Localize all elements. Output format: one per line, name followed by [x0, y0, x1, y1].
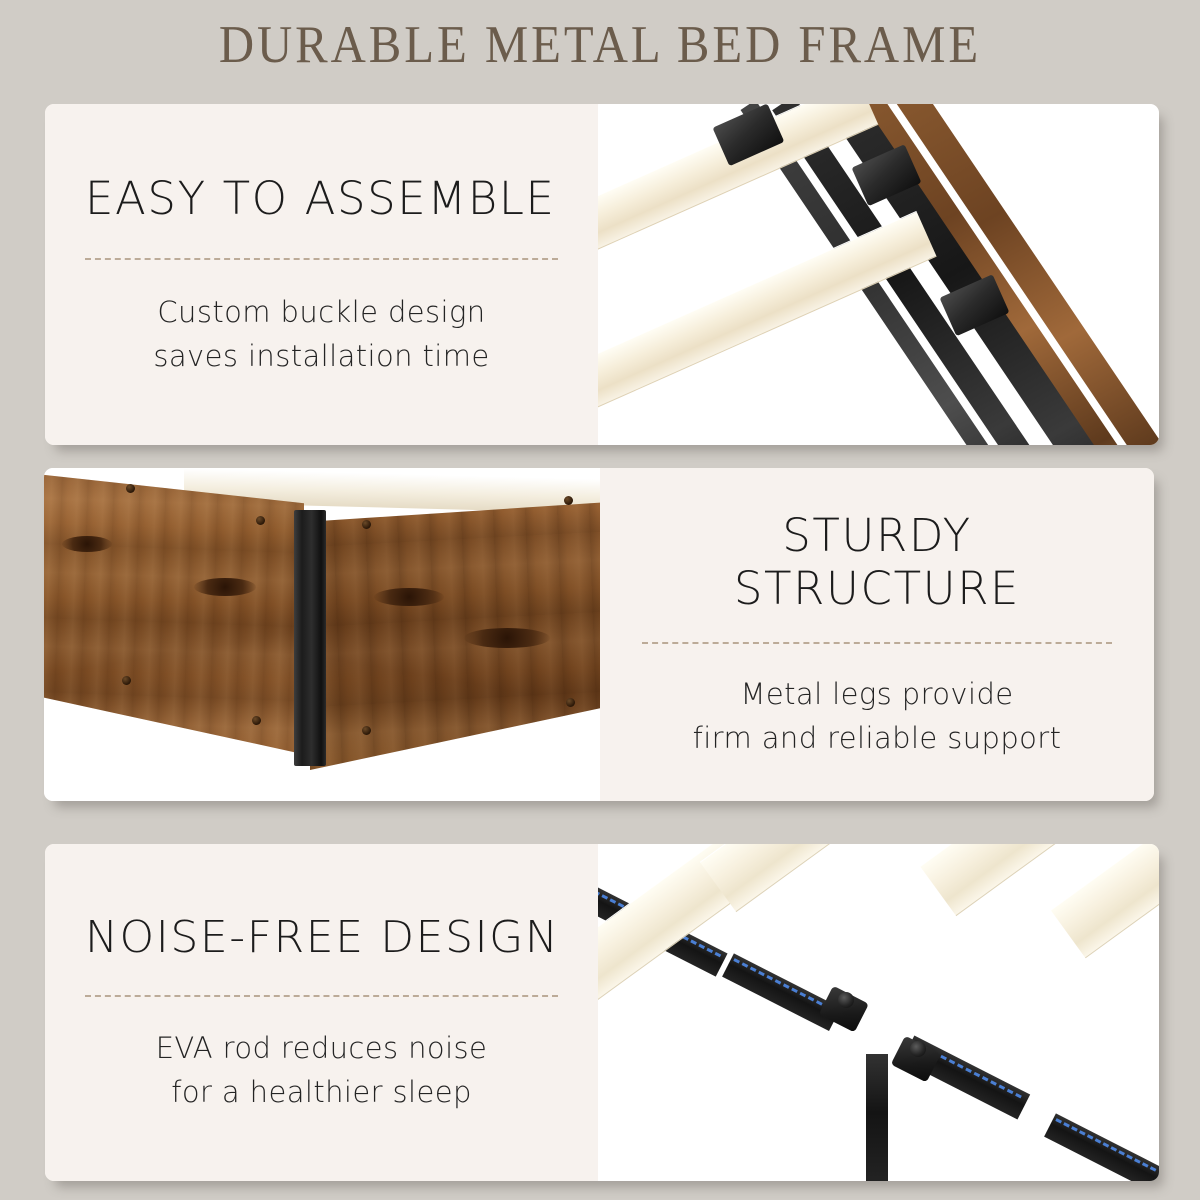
- screw-head: [252, 716, 261, 725]
- feature-card-sturdy-structure: STURDY STRUCTURE Metal legs provide firm…: [44, 468, 1154, 801]
- card-headline: EASY TO ASSEMBLE: [83, 172, 560, 225]
- feature-card-noise-free-design: NOISE-FREE DESIGN EVA rod reduces noise …: [45, 844, 1159, 1181]
- metal-leg-vertical: [866, 1054, 888, 1181]
- wood-knot: [62, 536, 112, 552]
- wood-knot: [464, 628, 550, 648]
- card-headline: NOISE-FREE DESIGN: [83, 911, 560, 964]
- feature-card-easy-to-assemble: EASY TO ASSEMBLE Custom buckle design sa…: [45, 104, 1159, 445]
- metal-support-bar: [722, 953, 841, 1031]
- screw-head: [566, 698, 575, 707]
- bolt-head: [838, 992, 854, 1008]
- card-text-panel: EASY TO ASSEMBLE Custom buckle design sa…: [45, 104, 598, 445]
- card-body-text: EVA rod reduces noise for a healthier sl…: [83, 1026, 560, 1114]
- product-photo-eva-rod-slats: [598, 844, 1159, 1181]
- wood-panel-left: [44, 474, 304, 766]
- screw-head: [256, 516, 265, 525]
- card-text-panel: STURDY STRUCTURE Metal legs provide firm…: [600, 468, 1154, 801]
- dashed-divider: [642, 642, 1112, 644]
- wood-knot: [194, 578, 256, 596]
- product-photo-slats-on-rail: [598, 104, 1159, 445]
- screw-head: [362, 726, 371, 735]
- wood-slat: [1050, 844, 1159, 958]
- card-body-text: Custom buckle design saves installation …: [83, 290, 560, 378]
- dashed-divider: [85, 995, 558, 997]
- metal-corner-leg: [294, 510, 326, 766]
- screw-head: [564, 496, 573, 505]
- screw-head: [126, 484, 135, 493]
- wood-knot: [374, 588, 444, 606]
- page-title: DURABLE METAL BED FRAME: [48, 14, 1152, 76]
- bolt-head: [910, 1041, 926, 1057]
- card-text-panel: NOISE-FREE DESIGN EVA rod reduces noise …: [45, 844, 598, 1181]
- card-body-text: Metal legs provide firm and reliable sup…: [638, 672, 1116, 760]
- screw-head: [122, 676, 131, 685]
- card-headline: STURDY STRUCTURE: [638, 509, 1116, 615]
- wood-panel-right: [310, 500, 600, 770]
- screw-head: [362, 520, 371, 529]
- dashed-divider: [85, 258, 558, 260]
- wood-slat: [598, 211, 937, 445]
- product-photo-wood-corner-leg: [44, 468, 600, 801]
